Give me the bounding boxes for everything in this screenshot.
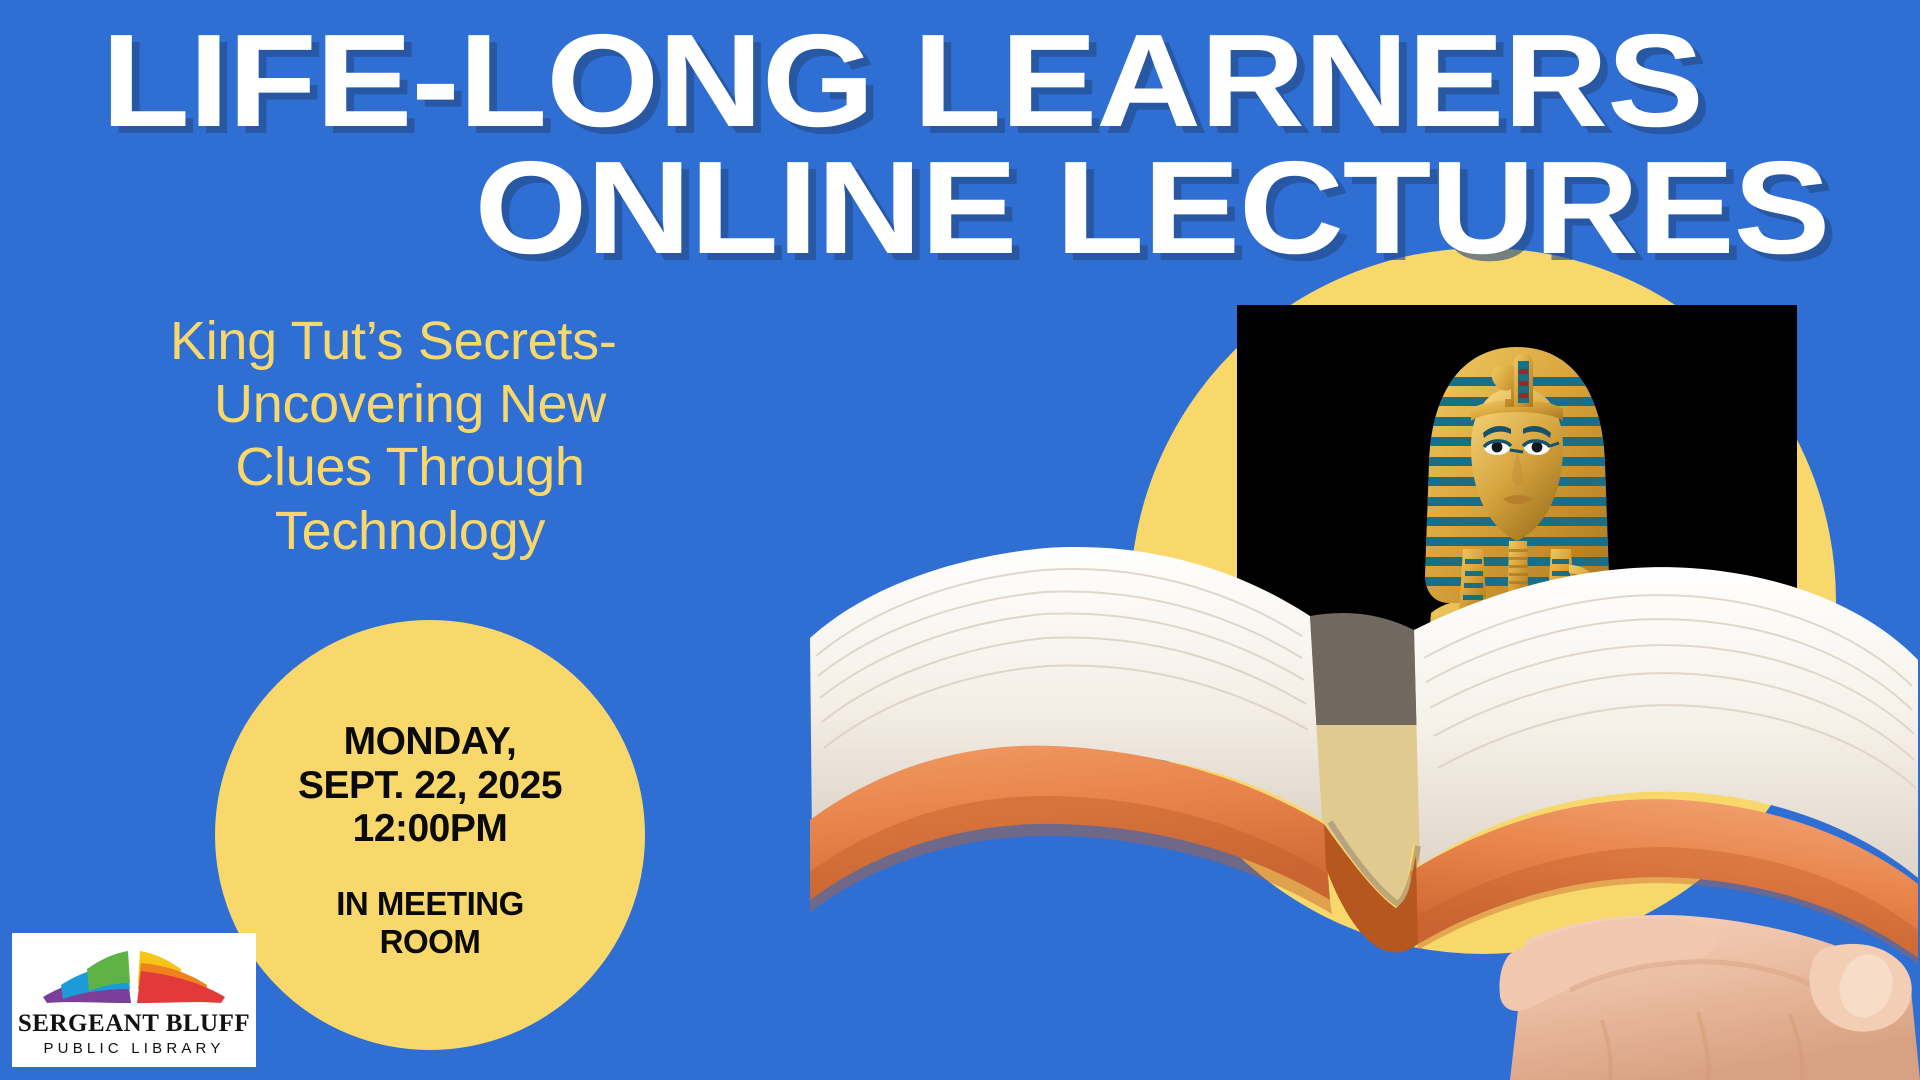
lecture-title-line-3: Clues Through <box>130 436 690 499</box>
headline-line-2: ONLINE LECTURES <box>86 145 1834 272</box>
lecture-title-line-1: King Tut’s Secrets- <box>130 310 690 373</box>
open-book-illustration <box>810 520 1920 1080</box>
lecture-title-line-2: Uncovering New <box>130 373 690 436</box>
lecture-title: King Tut’s Secrets- Uncovering New Clues… <box>130 310 690 563</box>
open-book-photo <box>810 520 1920 1080</box>
event-day: MONDAY, <box>344 720 517 764</box>
event-location-line-1: IN MEETING <box>336 885 524 923</box>
event-time: 12:00PM <box>353 807 508 851</box>
poster-canvas: LIFE-LONG LEARNERS ONLINE LECTURES King … <box>0 0 1920 1080</box>
open-book-rainbow-logo-icon <box>39 945 229 1009</box>
poster-headline: LIFE-LONG LEARNERS ONLINE LECTURES <box>0 18 1920 271</box>
event-details-text: MONDAY, SEPT. 22, 2025 12:00PM IN MEETIN… <box>215 620 645 1050</box>
logo-library-name: SERGEANT BLUFF <box>18 1011 250 1036</box>
logo-library-tagline: PUBLIC LIBRARY <box>43 1041 224 1056</box>
lecture-title-line-4: Technology <box>130 500 690 563</box>
event-location-line-2: ROOM <box>380 923 481 961</box>
library-logo: SERGEANT BLUFF PUBLIC LIBRARY <box>12 933 256 1067</box>
headline-line-1: LIFE-LONG LEARNERS <box>86 18 1834 145</box>
event-date: SEPT. 22, 2025 <box>298 764 562 808</box>
